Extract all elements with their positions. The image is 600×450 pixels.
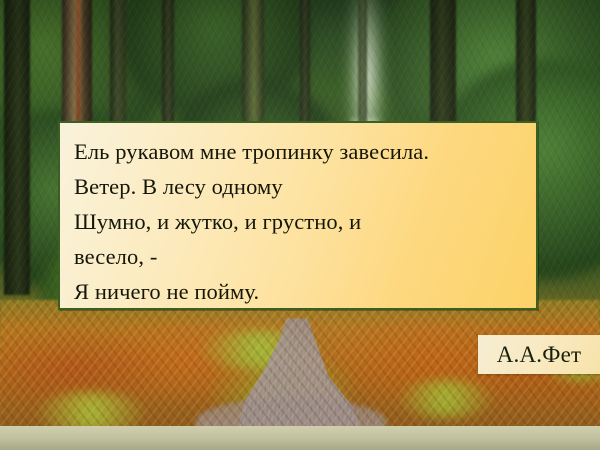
poem-line: Шумно, и жутко, и грустно, и (74, 204, 522, 239)
bottom-border-band (0, 426, 600, 450)
poem-line: весело, - (74, 239, 522, 274)
author-attribution-box: А.А.Фет (478, 335, 600, 374)
poem-slide: Ель рукавом мне тропинку завесила. Ветер… (0, 0, 600, 450)
author-name: А.А.Фет (497, 342, 582, 368)
poem-line: Я ничего не пойму. (74, 274, 522, 309)
poem-line: Ветер. В лесу одному (74, 169, 522, 204)
poem-line: Ель рукавом мне тропинку завесила. (74, 134, 522, 169)
poem-quote-box: Ель рукавом мне тропинку завесила. Ветер… (58, 121, 538, 310)
